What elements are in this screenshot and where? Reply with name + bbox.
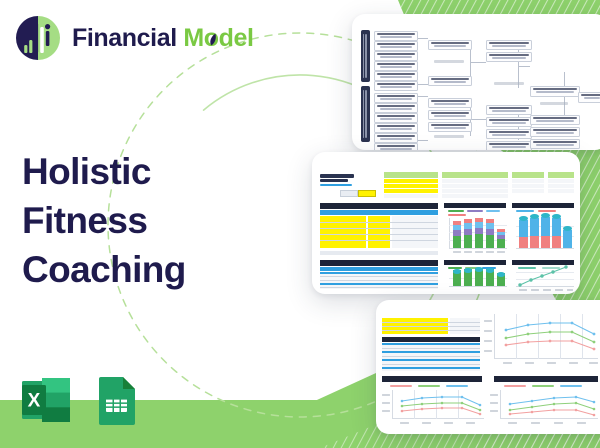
line-chart-top-right bbox=[494, 314, 600, 360]
bar-20x5 bbox=[497, 229, 505, 248]
chart-title-revenue-margins bbox=[382, 376, 482, 382]
bar-20x3 bbox=[475, 218, 483, 248]
brand-word-model-m: M bbox=[183, 24, 203, 52]
preview-card-dupont-flowchart[interactable] bbox=[352, 14, 600, 150]
dashboard-subtitle-line bbox=[320, 179, 348, 182]
chart-title-profitability bbox=[512, 203, 574, 208]
line-chart-bottom-right bbox=[500, 390, 600, 420]
line-chart-bottom-left bbox=[392, 390, 486, 420]
excel-icon: X bbox=[20, 374, 72, 426]
dashboard-title-line bbox=[320, 174, 354, 178]
promo-banner: Financial Model Holistic Fitness Coachin… bbox=[0, 0, 600, 448]
brand-word-financial: Financial bbox=[72, 24, 177, 52]
headline-line-3: Coaching bbox=[22, 246, 272, 295]
financial-model-circle-chart-logo bbox=[14, 14, 62, 62]
preview-card-dashboard[interactable] bbox=[312, 152, 580, 294]
google-sheets-icon bbox=[90, 374, 142, 426]
headline-line-1: Holistic bbox=[22, 148, 272, 197]
bar-20x2 bbox=[464, 219, 472, 248]
headline-line-2: Fitness bbox=[22, 197, 272, 246]
brand-word-model-del: del bbox=[219, 24, 254, 52]
file-format-icons: X bbox=[20, 374, 142, 426]
flowchart-side-label-balance-sheet bbox=[361, 86, 370, 142]
chart-title-costs-mix bbox=[444, 260, 506, 265]
bar-20x4 bbox=[486, 219, 494, 248]
chart-title-profitability-comparison bbox=[494, 376, 598, 382]
preview-card-charts[interactable] bbox=[376, 300, 600, 434]
brand-logo-o-leaf: o bbox=[204, 26, 219, 51]
line-chart-payback bbox=[512, 264, 576, 288]
charts-shot bbox=[376, 300, 600, 434]
brand-wordmark: Financial Model bbox=[72, 26, 254, 51]
brand-logo: Financial Model bbox=[14, 14, 254, 62]
dashboard-shot bbox=[312, 152, 580, 294]
page-title: Holistic Fitness Coaching bbox=[22, 148, 272, 294]
bar-20x1 bbox=[453, 221, 461, 248]
svg-text:X: X bbox=[28, 391, 41, 412]
flowchart-side-label-income-statement bbox=[361, 30, 370, 82]
dupont-flowchart-shot bbox=[352, 14, 600, 150]
chart-title-revenue-streams bbox=[444, 203, 506, 208]
